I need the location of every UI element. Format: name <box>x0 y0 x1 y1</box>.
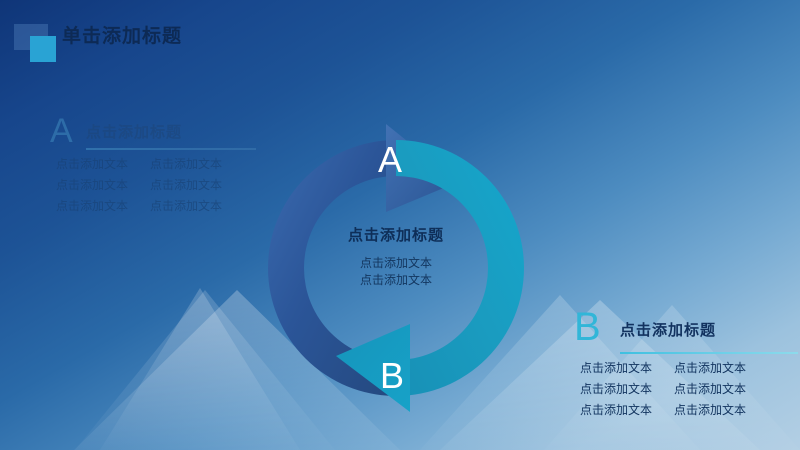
list-item: 点击添加文本 <box>674 360 746 376</box>
list-item: 点击添加文本 <box>56 156 128 172</box>
info-block-b-items: 点击添加文本 点击添加文本 点击添加文本 点击添加文本 点击添加文本 点击添加文… <box>580 360 746 418</box>
list-item: 点击添加文本 <box>674 402 746 418</box>
cycle-node-b-letter: B <box>380 358 404 394</box>
list-item: 点击添加文本 <box>56 177 128 193</box>
info-block-a-letter: A <box>50 112 73 150</box>
list-item: 点击添加文本 <box>150 156 222 172</box>
info-block-b-letter: B <box>574 308 601 346</box>
list-item: 点击添加文本 <box>674 381 746 397</box>
info-block-b-title: 点击添加标题 <box>620 320 716 342</box>
info-block-b-divider <box>620 352 798 354</box>
cycle-node-a-letter: A <box>378 142 402 178</box>
info-block-a-title: 点击添加标题 <box>86 122 182 144</box>
list-item: 点击添加文本 <box>580 381 652 397</box>
page-title: 单击添加标题 <box>62 24 182 50</box>
list-item: 点击添加文本 <box>580 402 652 418</box>
info-block-a-items: 点击添加文本 点击添加文本 点击添加文本 点击添加文本 点击添加文本 点击添加文… <box>56 156 222 214</box>
header-decorative-square-front <box>30 36 56 62</box>
slide-canvas: 单击添加标题 <box>0 0 800 450</box>
info-block-a-divider <box>86 148 256 150</box>
list-item: 点击添加文本 <box>56 198 128 214</box>
list-item: 点击添加文本 <box>580 360 652 376</box>
list-item: 点击添加文本 <box>150 198 222 214</box>
list-item: 点击添加文本 <box>150 177 222 193</box>
